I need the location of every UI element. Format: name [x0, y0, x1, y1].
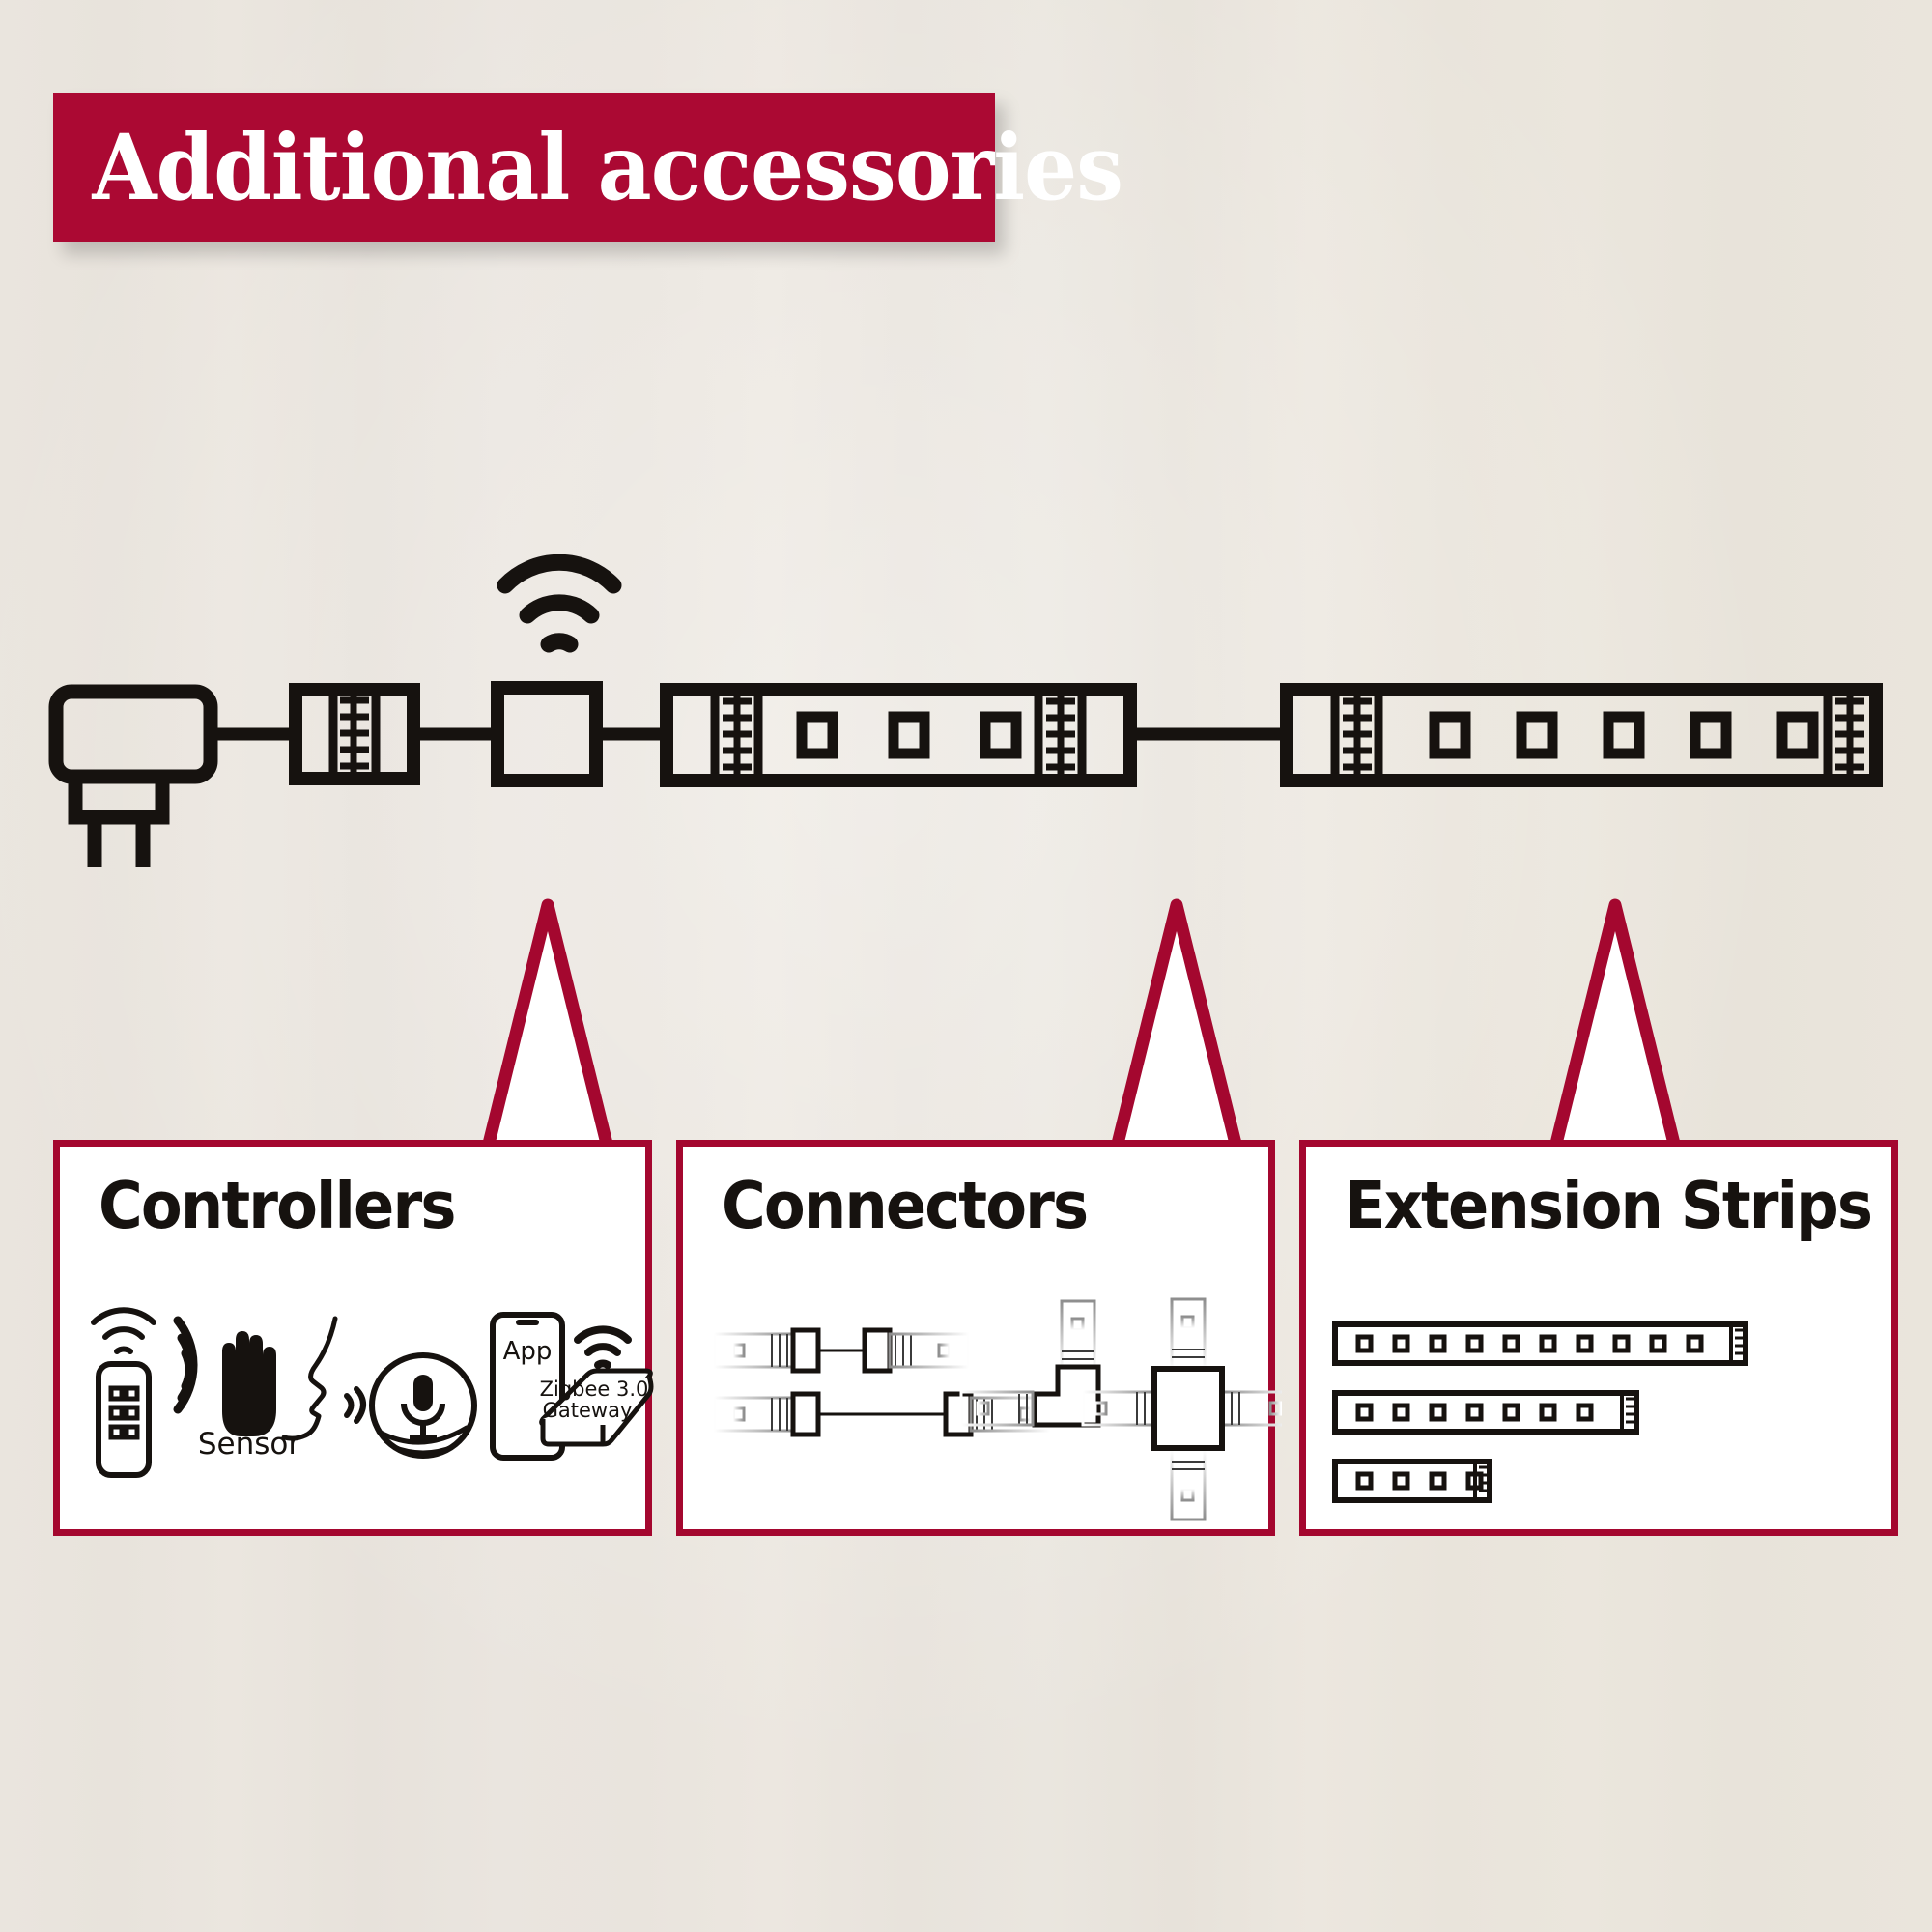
short-cable-connector-icon — [714, 1330, 969, 1371]
gateway-label-line1: Zigbee 3.0 — [540, 1378, 649, 1401]
card-extensions[interactable]: Extension Strips — [1299, 1140, 1898, 1536]
gateway-label-line2: Gateway — [543, 1399, 633, 1422]
sensor-label: Sensor — [198, 1427, 301, 1462]
card-connectors[interactable]: Connectors — [676, 1140, 1275, 1536]
card-title-connectors: Connectors — [722, 1168, 1087, 1243]
corner-connector-icon — [961, 1301, 1098, 1425]
wifi-controller-icon — [497, 688, 596, 781]
background-vignette — [0, 0, 1932, 1932]
cross-connector-icon — [1083, 1299, 1282, 1520]
title-banner: Additional accessories — [53, 93, 995, 242]
wifi-icon — [505, 562, 613, 644]
app-label: App — [503, 1337, 553, 1366]
long-cable-connector-icon — [714, 1394, 1050, 1435]
connectors-art — [683, 1292, 1268, 1533]
pointer-to-connectors — [1114, 905, 1239, 1159]
extension-strip-medium — [1335, 1393, 1636, 1432]
strip-connector-icon — [296, 690, 413, 779]
led-strip-short — [667, 690, 1130, 781]
system-diagram — [0, 512, 1932, 918]
gateway-wifi-icon — [578, 1329, 628, 1365]
led-strip-long — [1287, 690, 1876, 781]
remote-control-icon — [94, 1310, 154, 1475]
card-title-extensions: Extension Strips — [1345, 1168, 1871, 1243]
microphone-icon — [404, 1375, 442, 1440]
extension-strip-short — [1335, 1462, 1490, 1500]
card-controllers[interactable]: Controllers — [53, 1140, 652, 1536]
pointer-to-controllers — [485, 905, 611, 1159]
card-title-controllers: Controllers — [99, 1168, 455, 1243]
voice-assistant-icon — [284, 1319, 474, 1456]
pointer-to-extensions — [1552, 905, 1678, 1159]
page-title: Additional accessories — [53, 115, 1122, 221]
background-texture — [0, 0, 1932, 1932]
accessory-cards: Controllers — [0, 1140, 1932, 1546]
power-supply-icon — [56, 692, 211, 867]
motion-sensor-icon — [178, 1321, 276, 1436]
extension-strip-long — [1335, 1324, 1746, 1363]
extensions-art — [1306, 1292, 1891, 1533]
controllers-art: Sensor — [60, 1292, 645, 1533]
